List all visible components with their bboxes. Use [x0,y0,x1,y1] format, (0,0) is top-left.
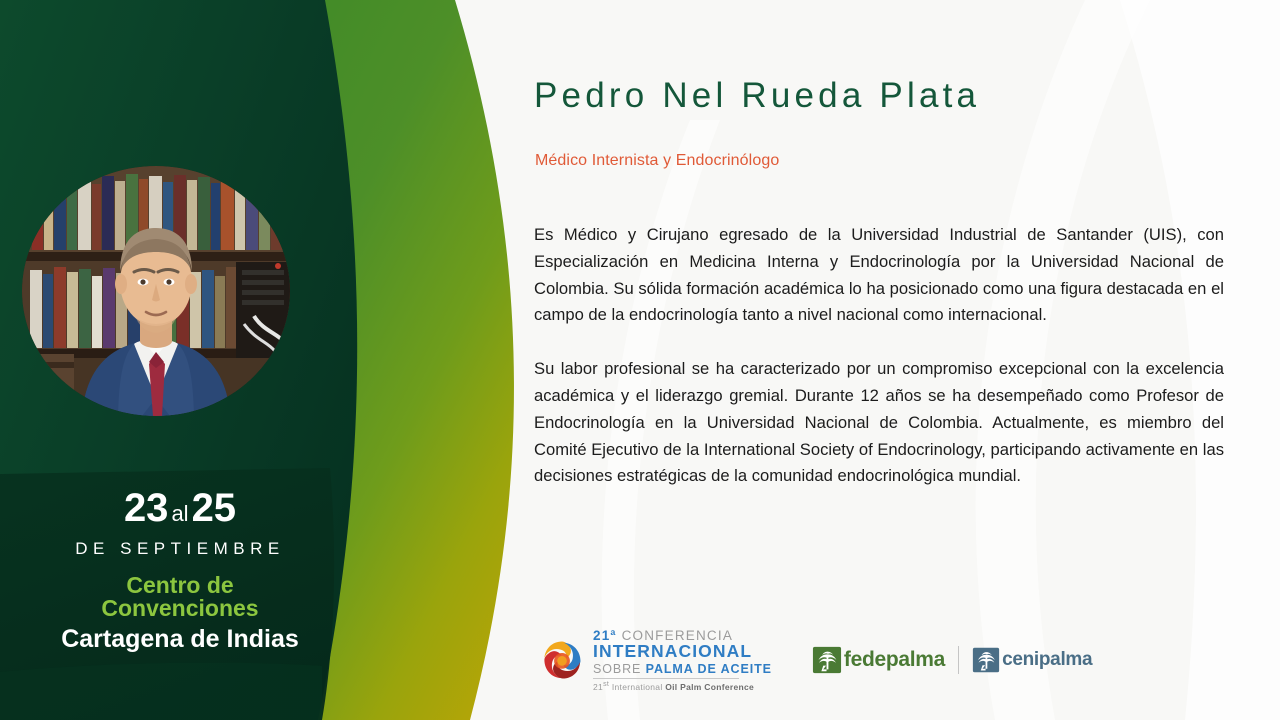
conference-line4-sup: st [603,680,609,688]
conference-line4: 21st International Oil Palm Conference [593,681,772,691]
event-venue-line2: Convenciones [0,597,360,620]
partner-logos: fedepalma cenipalma [812,645,1092,675]
conference-line4-prefix: 21 [593,682,603,692]
event-venue: Centro de Convenciones [0,574,360,620]
event-city: Cartagena de Indias [0,624,360,654]
event-month: DE SEPTIEMBRE [0,538,360,560]
fedepalma-logo: fedepalma [812,645,945,675]
conference-line3: SOBRE PALMA DE ACEITE [593,663,772,676]
conference-divider [593,678,739,679]
bio-paragraph: Su labor profesional se ha caracterizado… [534,356,1224,490]
speaker-role: Médico Internista y Endocrinólogo [535,152,779,170]
conference-swirl-icon [540,638,584,682]
palm-tree-icon [972,646,1000,674]
logo-divider [958,646,959,674]
event-date-block: 23al25 DE SEPTIEMBRE Centro de Convencio… [0,486,360,654]
bio-paragraph: Es Médico y Cirujano egresado de la Univ… [534,222,1224,329]
palm-tree-icon [812,645,842,675]
cenipalma-logo: cenipalma [972,646,1092,674]
event-day-connector: al [168,501,191,526]
footer-logos: 21ª CONFERENCIA INTERNACIONAL SOBRE PALM… [540,628,1092,692]
cenipalma-name: cenipalma [1002,649,1092,671]
conference-line2: INTERNACIONAL [593,643,772,661]
conference-line1: 21ª CONFERENCIA [593,629,772,643]
fedepalma-name: fedepalma [844,648,945,672]
slide-root: 23al25 DE SEPTIEMBRE Centro de Convencio… [0,0,1280,720]
conference-logo-text: 21ª CONFERENCIA INTERNACIONAL SOBRE PALM… [593,629,772,692]
event-day-to: 25 [192,486,237,530]
speaker-portrait [22,166,290,416]
portrait-photo-icon [22,166,290,416]
conference-line4-mid: International [612,682,663,692]
conference-line3-bold: PALMA DE ACEITE [646,662,772,676]
event-day-from: 23 [124,486,169,530]
conference-line4-bold: Oil Palm Conference [665,682,754,692]
speaker-bio: Es Médico y Cirujano egresado de la Univ… [534,222,1224,490]
event-dates: 23al25 [0,486,360,536]
speaker-name: Pedro Nel Rueda Plata [534,76,980,116]
conference-line3-prefix: SOBRE [593,662,641,676]
event-venue-line1: Centro de [0,574,360,597]
conference-logo: 21ª CONFERENCIA INTERNACIONAL SOBRE PALM… [540,629,772,692]
